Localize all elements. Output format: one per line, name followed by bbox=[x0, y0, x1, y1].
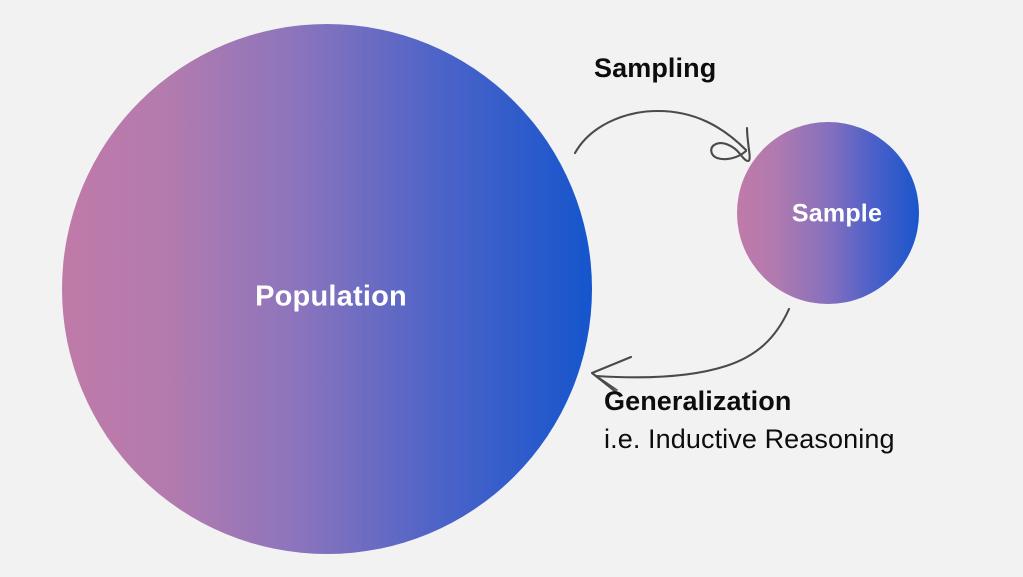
diagram-figure bbox=[0, 0, 1023, 577]
generalization-label: Generalization bbox=[604, 386, 791, 417]
diagram-canvas: Population Sample Sampling Generalizatio… bbox=[0, 0, 1023, 577]
sample-circle bbox=[737, 122, 919, 304]
sampling-label: Sampling bbox=[594, 53, 716, 84]
arrow-head-icon bbox=[711, 128, 749, 161]
population-circle bbox=[62, 24, 592, 554]
generalization-arrow bbox=[592, 309, 789, 392]
sampling-arrow bbox=[575, 111, 750, 161]
generalization-sublabel: i.e. Inductive Reasoning bbox=[604, 424, 895, 455]
